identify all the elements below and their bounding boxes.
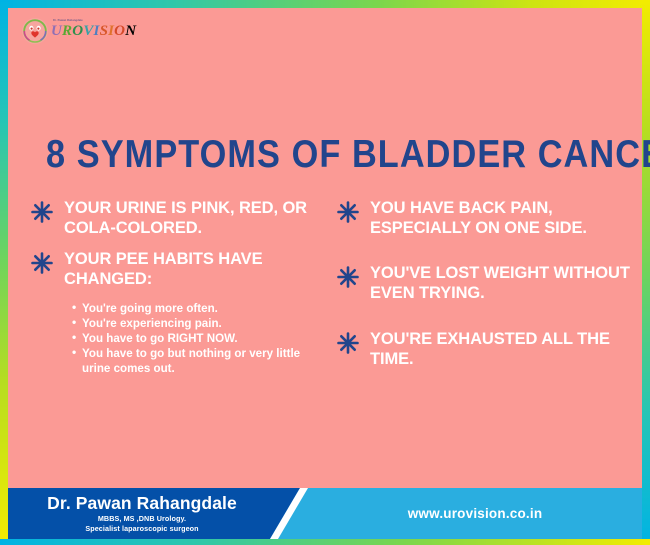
poster-canvas: UROVISION Dr. Pawan Rahangdale 8 SYMPTOM… xyxy=(8,8,642,492)
list-item: You're experiencing pain. xyxy=(72,316,330,331)
list-item: You're going more often. xyxy=(72,301,330,316)
symptom-sublist: You're going more often. You're experien… xyxy=(30,301,330,376)
symptom-item: YOU'VE LOST WEIGHT WITHOUT EVEN TRYING. xyxy=(336,263,636,303)
symptom-text: YOU HAVE BACK PAIN, ESPECIALLY ON ONE SI… xyxy=(370,198,636,238)
symptom-text: YOU'RE EXHAUSTED ALL THE TIME. xyxy=(370,329,636,369)
asterisk-star-icon xyxy=(30,251,54,275)
symptom-item: YOUR URINE IS PINK, RED, OR COLA-COLORED… xyxy=(30,198,330,238)
infographic-poster: UROVISION Dr. Pawan Rahangdale 8 SYMPTOM… xyxy=(0,0,650,545)
credentials-line-1: MBBS, MS ,DNB Urology. xyxy=(8,514,276,524)
spacer xyxy=(336,315,636,329)
list-item: You have to go but nothing or very littl… xyxy=(72,346,330,376)
symptom-item: YOU'RE EXHAUSTED ALL THE TIME. xyxy=(336,329,636,369)
doctor-credentials: MBBS, MS ,DNB Urology. Specialist laparo… xyxy=(8,514,276,535)
footer-bar: Dr. Pawan Rahangdale MBBS, MS ,DNB Urolo… xyxy=(8,488,642,539)
doctor-name: Dr. Pawan Rahangdale xyxy=(8,493,276,514)
brand-logo[interactable]: UROVISION Dr. Pawan Rahangdale xyxy=(22,18,136,44)
urovision-circle-face-heart-icon xyxy=(22,18,48,44)
symptoms-column-right: YOU HAVE BACK PAIN, ESPECIALLY ON ONE SI… xyxy=(336,198,636,380)
spacer xyxy=(336,249,636,263)
website-url[interactable]: www.urovision.co.in xyxy=(308,488,642,539)
page-title: 8 SYMPTOMS OF BLADDER CANCER xyxy=(46,133,604,177)
symptoms-column-left: YOUR URINE IS PINK, RED, OR COLA-COLORED… xyxy=(30,198,330,376)
asterisk-star-icon xyxy=(336,331,360,355)
symptom-text: YOU'VE LOST WEIGHT WITHOUT EVEN TRYING. xyxy=(370,263,636,303)
border-bottom-gradient xyxy=(0,539,650,545)
asterisk-star-icon xyxy=(336,200,360,224)
brand-wordmark: UROVISION xyxy=(51,24,136,39)
symptom-item: YOUR PEE HABITS HAVE CHANGED: xyxy=(30,249,330,289)
symptoms-columns: YOUR URINE IS PINK, RED, OR COLA-COLORED… xyxy=(8,198,642,438)
symptom-text: YOUR URINE IS PINK, RED, OR COLA-COLORED… xyxy=(64,198,330,238)
credentials-line-2: Specialist laparoscopic surgeon xyxy=(8,524,276,534)
border-top-gradient xyxy=(0,0,650,8)
asterisk-star-icon xyxy=(30,200,54,224)
list-item: You have to go RIGHT NOW. xyxy=(72,331,330,346)
brand-tagline: Dr. Pawan Rahangdale xyxy=(53,19,83,22)
symptom-item: YOU HAVE BACK PAIN, ESPECIALLY ON ONE SI… xyxy=(336,198,636,238)
symptom-text: YOUR PEE HABITS HAVE CHANGED: xyxy=(64,249,330,289)
asterisk-star-icon xyxy=(336,265,360,289)
